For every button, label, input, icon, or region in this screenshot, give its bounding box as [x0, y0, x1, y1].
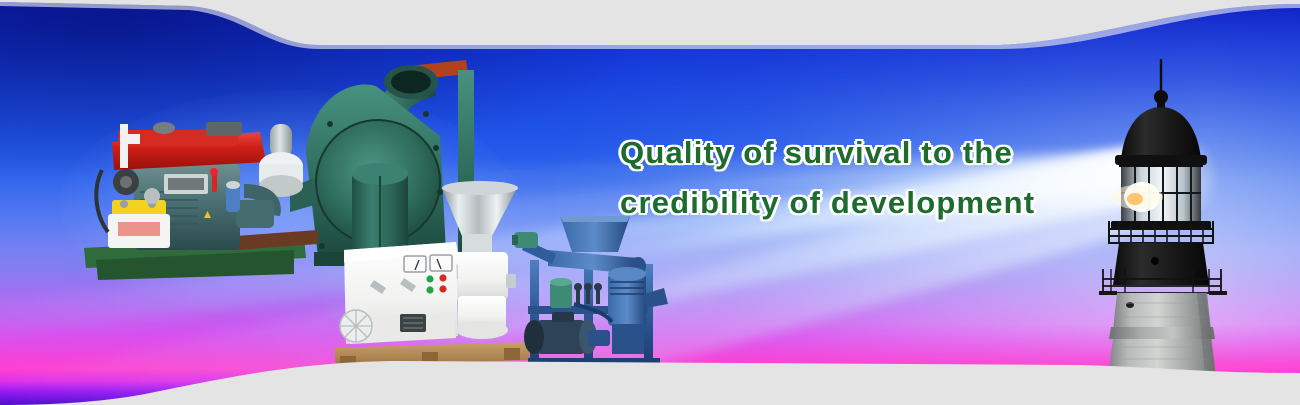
- bottom-curved-band: [0, 345, 1300, 405]
- headline-line-1: Quality of survival to the: [620, 128, 1090, 178]
- top-curved-band: [0, 0, 1300, 60]
- diesel-engine-graphic: [78, 108, 318, 288]
- promo-banner: Quality of survival to the credibility o…: [0, 0, 1300, 405]
- headline-line-2: credibility of development: [620, 178, 1090, 228]
- headline-text: Quality of survival to the credibility o…: [620, 128, 1090, 228]
